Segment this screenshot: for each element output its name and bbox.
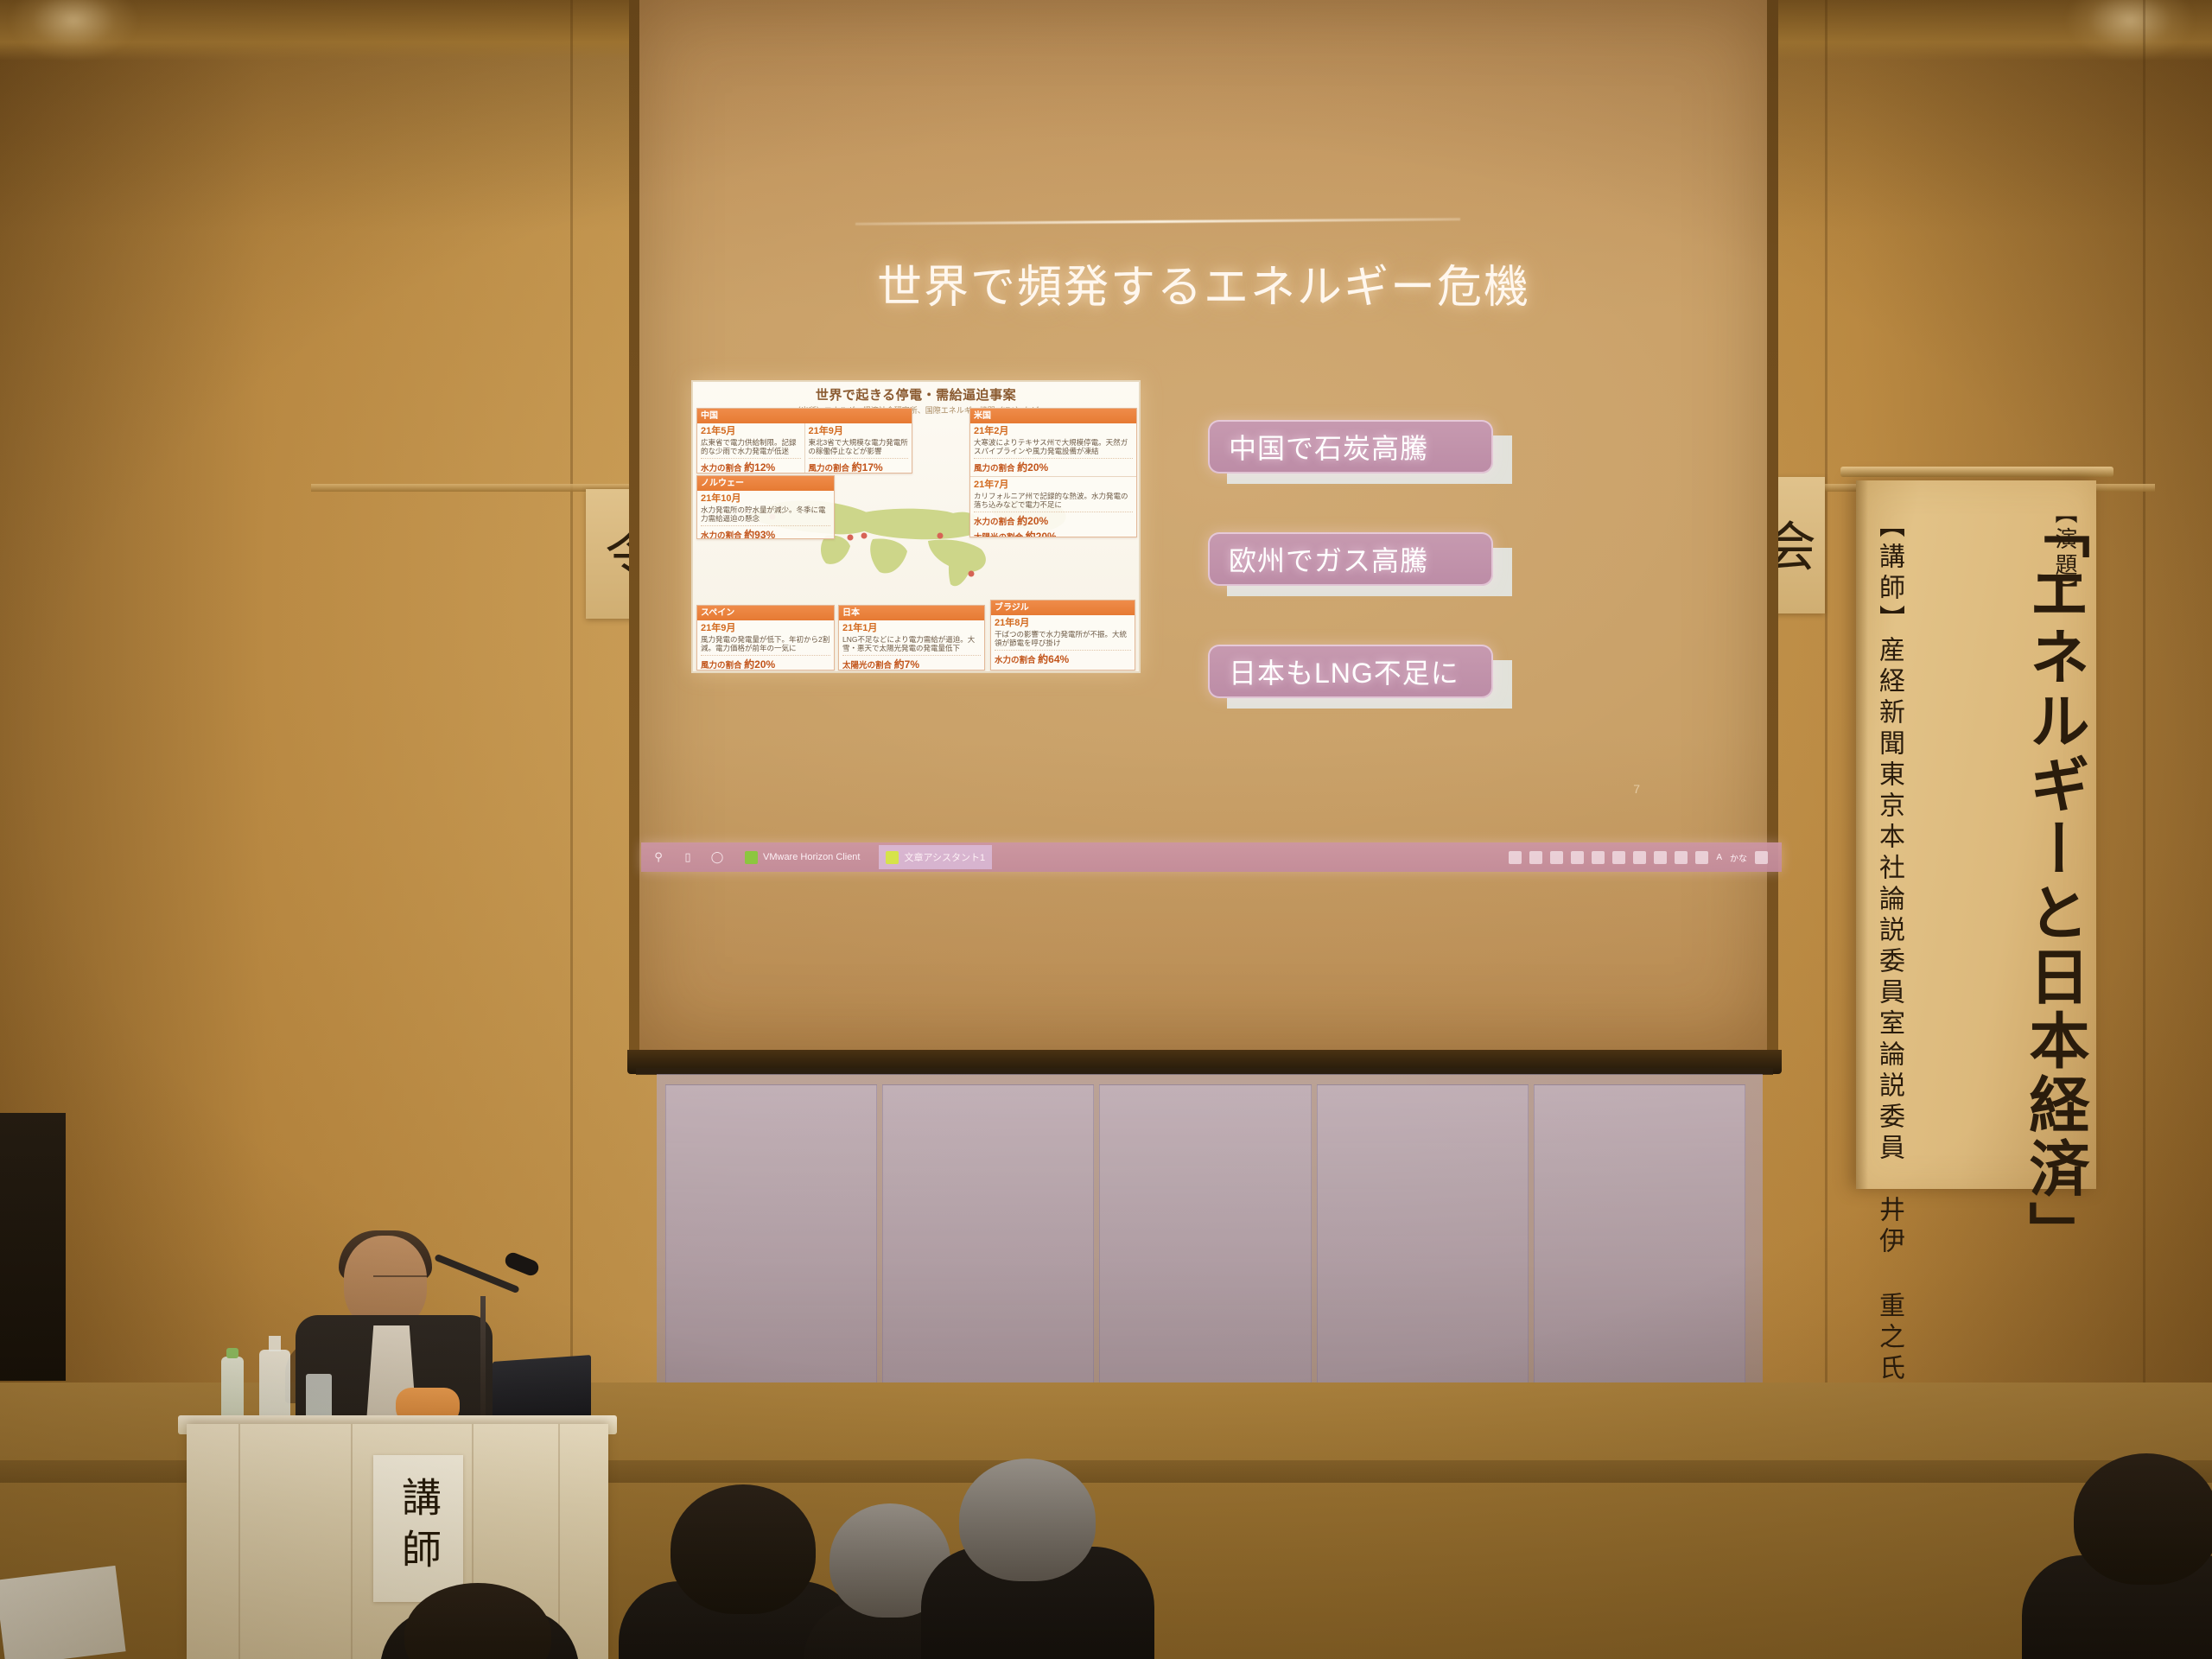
panel-japan: 日本 21年1月 LNG不足などにより電力需給が逼迫。大雪・悪天で太陽光発電の発… bbox=[838, 605, 985, 671]
taskbar-app-vmware[interactable]: VMware Horizon Client bbox=[738, 845, 867, 869]
tray-icon[interactable] bbox=[1550, 851, 1563, 864]
panel-country-label: 日本 bbox=[839, 606, 984, 620]
event-stat: 水力の割合 約12% bbox=[701, 458, 801, 474]
event-date: 21年5月 bbox=[701, 426, 801, 437]
event-stat-secondary: 太陽光の割合 約20% bbox=[974, 528, 1133, 537]
event-banner: 【演題】 「エネルギーと日本経済」 【講師】産経新聞東京本社論説委員室論説委員 … bbox=[1856, 480, 2096, 1189]
taskbar-app-label: 文章アシスタント1 bbox=[904, 850, 985, 864]
stat-value: 約7% bbox=[894, 658, 919, 671]
document-icon bbox=[886, 851, 899, 864]
bullet-row-1: 中国で石炭高騰 bbox=[1208, 420, 1493, 480]
stat-value: 約17% bbox=[852, 461, 883, 474]
event-text: 広東省で電力供給制限。記録的な少雨で水力発電が低迷 bbox=[701, 438, 801, 456]
stat-value: 約20% bbox=[1017, 515, 1048, 527]
notification-icon[interactable] bbox=[1755, 851, 1768, 864]
windows-taskbar[interactable]: ⚲ ▯ ◯ VMware Horizon Client 文章アシスタント1 bbox=[641, 842, 1782, 872]
stat-label: 風力の割合 bbox=[701, 661, 742, 671]
bullet-label: 日本もLNG不足に bbox=[1208, 652, 1459, 691]
panel-country-label: スペイン bbox=[697, 606, 834, 620]
slide-title: 世界で頻発するエネルギー危機 bbox=[655, 251, 1752, 315]
wall-panel bbox=[1317, 1084, 1529, 1387]
taskbar-app-label: VMware Horizon Client bbox=[763, 852, 860, 862]
speaker-placard: 講師 bbox=[373, 1455, 463, 1602]
stat-label: 水力の割合 bbox=[701, 531, 742, 539]
panel-event: 21年1月 LNG不足などにより電力需給が逼迫。大雪・悪天で太陽光発電の発電量低… bbox=[839, 620, 984, 671]
event-date: 21年9月 bbox=[809, 426, 909, 437]
event-stat: 太陽光の割合 約7% bbox=[842, 655, 981, 671]
stat-value: 約20% bbox=[1026, 531, 1057, 537]
audience-head bbox=[2074, 1453, 2212, 1585]
bottle-cap bbox=[226, 1348, 238, 1358]
curtain-rail-left bbox=[311, 484, 632, 492]
event-text: LNG不足などにより電力需給が逼迫。大雪・悪天で太陽光発電の発電量低下 bbox=[842, 635, 981, 653]
event-date: 21年9月 bbox=[701, 623, 830, 634]
event-text: カリフォルニア州で記録的な熱波。水力発電の落ち込みなどで電力不足に bbox=[974, 492, 1133, 510]
event-stat: 水力の割合 約20% bbox=[974, 512, 1133, 528]
audience-head bbox=[671, 1484, 816, 1614]
tray-icon[interactable] bbox=[1529, 851, 1542, 864]
lecture-hall-photo: 令 会 世界で頻発するエネルギー危機 世界で起きる停電・需給逼迫事案 （出所）エ… bbox=[0, 0, 2212, 1659]
drape-fold bbox=[238, 1424, 240, 1659]
glasses-icon bbox=[373, 1275, 427, 1287]
stat-label: 水力の割合 bbox=[974, 518, 1015, 527]
laptop-screen bbox=[493, 1355, 591, 1424]
banner-title: 「エネルギーと日本経済」 bbox=[2023, 498, 2084, 1175]
panel-event: 21年8月 干ばつの影響で水力発電所が不振。大統領が節電を呼び掛け 水力の割合 … bbox=[991, 615, 1135, 668]
panel-event: 21年5月 広東省で電力供給制限。記録的な少雨で水力発電が低迷 水力の割合 約1… bbox=[697, 423, 804, 474]
audience-head bbox=[959, 1459, 1096, 1581]
water-bottle bbox=[221, 1357, 244, 1421]
event-date: 21年7月 bbox=[974, 480, 1133, 491]
stat-value: 約12% bbox=[744, 461, 775, 474]
cortana-icon[interactable]: ◯ bbox=[709, 849, 726, 866]
drape-fold bbox=[351, 1424, 353, 1659]
wall-panel bbox=[1099, 1084, 1311, 1387]
chandelier-right-icon bbox=[2065, 0, 2195, 61]
microphone-stand bbox=[480, 1296, 486, 1426]
stat-label: 風力の割合 bbox=[974, 464, 1015, 474]
event-stat: 風力の割合 約20% bbox=[974, 458, 1133, 474]
panel-event: 21年10月 水力発電所の貯水量が減少。冬季に電力需給逼迫の懸念 水力の割合 約… bbox=[697, 491, 834, 539]
event-text: 大寒波によりテキサス州で大規模停電。天然ガスパイプラインや風力発電設備が凍結 bbox=[974, 438, 1133, 456]
stat-label: 水力の割合 bbox=[701, 464, 742, 474]
system-tray[interactable]: A かな bbox=[1509, 851, 1773, 864]
panel-china: 中国 21年5月 広東省で電力供給制限。記録的な少雨で水力発電が低迷 水力の割合… bbox=[696, 408, 912, 474]
wall-panel bbox=[882, 1084, 1094, 1387]
stat-value: 約20% bbox=[1017, 461, 1048, 474]
network-icon[interactable] bbox=[1675, 851, 1688, 864]
banner-edge-shadow bbox=[1856, 480, 1868, 1189]
panel-country-label: 中国 bbox=[697, 409, 912, 423]
panel-country-label: ブラジル bbox=[991, 601, 1135, 615]
input-mode-indicator[interactable]: A bbox=[1716, 853, 1722, 862]
stat-label: 風力の割合 bbox=[809, 464, 850, 474]
event-stat: 水力の割合 約93% bbox=[701, 525, 830, 539]
carafe-neck bbox=[269, 1336, 281, 1351]
panel-norway: ノルウェー 21年10月 水力発電所の貯水量が減少。冬季に電力需給逼迫の懸念 水… bbox=[696, 475, 835, 539]
tray-icon[interactable] bbox=[1592, 851, 1605, 864]
ime-indicator[interactable]: かな bbox=[1730, 851, 1747, 864]
event-stat: 風力の割合 約17% bbox=[809, 458, 909, 474]
panel-country-label: 米国 bbox=[970, 409, 1136, 423]
tray-icon[interactable] bbox=[1509, 851, 1522, 864]
left-paper-sheet bbox=[0, 1566, 126, 1659]
vmware-icon bbox=[745, 851, 758, 864]
banner-speaker: 【講師】産経新聞東京本社論説委員室論説委員 井伊 重之氏 bbox=[1870, 512, 1908, 1175]
stat-label: 太陽光の割合 bbox=[974, 533, 1023, 537]
left-dark-object bbox=[0, 1113, 66, 1381]
banner-rod bbox=[1840, 467, 2113, 477]
bullet-box-2: 欧州でガス高騰 bbox=[1208, 532, 1493, 586]
task-view-icon[interactable]: ▯ bbox=[679, 849, 696, 866]
panel-country-label: ノルウェー bbox=[697, 476, 834, 491]
event-date: 21年10月 bbox=[701, 493, 830, 505]
stat-value: 約93% bbox=[744, 529, 775, 539]
panel-spain: スペイン 21年9月 風力発電の発電量が低下。年初から2割減。電力価格が前年の一… bbox=[696, 605, 835, 671]
event-text: 干ばつの影響で水力発電所が不振。大統領が節電を呼び掛け bbox=[995, 630, 1131, 648]
event-date: 21年8月 bbox=[995, 618, 1131, 629]
bullet-label: 欧州でガス高騰 bbox=[1208, 539, 1428, 579]
title-divider bbox=[855, 218, 1460, 225]
bullet-box-3: 日本もLNG不足に bbox=[1208, 645, 1493, 698]
stage-wall-panels bbox=[665, 1084, 1745, 1387]
panel-brazil: ブラジル 21年8月 干ばつの影響で水力発電所が不振。大統領が節電を呼び掛け 水… bbox=[990, 600, 1135, 671]
slide-number: 7 bbox=[1633, 782, 1640, 796]
taskbar-app-document[interactable]: 文章アシスタント1 bbox=[879, 845, 992, 869]
volume-icon[interactable] bbox=[1654, 851, 1667, 864]
panel-usa: 米国 21年2月 大寒波によりテキサス州で大規模停電。天然ガスパイプラインや風力… bbox=[969, 408, 1137, 537]
tray-icon[interactable] bbox=[1633, 851, 1646, 864]
bullet-box-1: 中国で石炭高騰 bbox=[1208, 420, 1493, 474]
panel-event: 21年9月 東北3省で大規模な電力発電所の稼働停止などが影響 風力の割合 約17… bbox=[804, 423, 912, 474]
stat-value: 約20% bbox=[744, 658, 775, 671]
chandelier-left-icon bbox=[9, 0, 138, 61]
keyboard-icon[interactable] bbox=[1695, 851, 1708, 864]
event-text: 風力発電の発電量が低下。年初から2割減。電力価格が前年の一気に bbox=[701, 635, 830, 653]
event-text: 東北3省で大規模な電力発電所の稼働停止などが影響 bbox=[809, 438, 909, 456]
stat-label: 水力の割合 bbox=[995, 656, 1036, 665]
bullet-row-2: 欧州でガス高騰 bbox=[1208, 532, 1493, 593]
event-stat: 水力の割合 約64% bbox=[995, 650, 1131, 666]
infographic-title: 世界で起きる停電・需給逼迫事案 bbox=[693, 385, 1139, 404]
panel-event: 21年2月 大寒波によりテキサス州で大規模停電。天然ガスパイプラインや風力発電設… bbox=[970, 423, 1136, 476]
stat-label: 太陽光の割合 bbox=[842, 661, 892, 671]
stat-value: 約64% bbox=[1038, 653, 1069, 665]
panel-event: 21年9月 風力発電の発電量が低下。年初から2割減。電力価格が前年の一気に 風力… bbox=[697, 620, 834, 671]
event-stat: 風力の割合 約20% bbox=[701, 655, 830, 671]
event-date: 21年1月 bbox=[842, 623, 981, 634]
wall-panel bbox=[665, 1084, 877, 1387]
tray-icon[interactable] bbox=[1612, 851, 1625, 864]
presentation-slide: 世界で頻発するエネルギー危機 世界で起きる停電・需給逼迫事案 （出所）エネルギー… bbox=[655, 17, 1752, 881]
bullet-label: 中国で石炭高騰 bbox=[1208, 427, 1428, 467]
infographic-card: 世界で起きる停電・需給逼迫事案 （出所）エネルギー経済社会研究所、国際エネルギー… bbox=[691, 380, 1141, 673]
event-date: 21年2月 bbox=[974, 426, 1133, 437]
panel-event: 21年7月 カリフォルニア州で記録的な熱波。水力発電の落ち込みなどで電力不足に … bbox=[970, 476, 1136, 537]
event-text: 水力発電所の貯水量が減少。冬季に電力需給逼迫の懸念 bbox=[701, 505, 830, 524]
search-icon[interactable]: ⚲ bbox=[650, 849, 667, 866]
bullet-row-3: 日本もLNG不足に bbox=[1208, 645, 1493, 705]
wall-panel bbox=[1534, 1084, 1745, 1387]
tray-icon[interactable] bbox=[1571, 851, 1584, 864]
